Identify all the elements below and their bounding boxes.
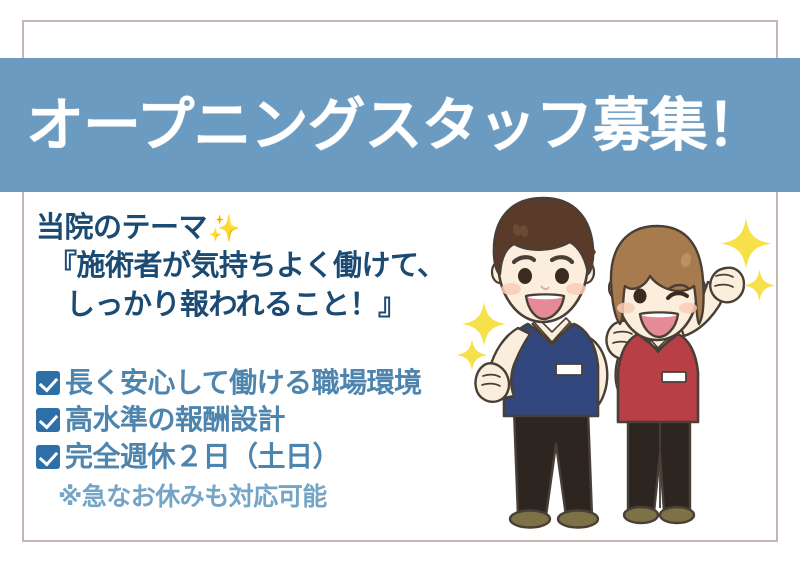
checklist-item: 高水準の報酬設計 xyxy=(36,403,422,436)
theme-block: 当院のテーマ✨ 『施術者が気持ちよく働けて、 しっかり報われること！』 xyxy=(36,208,556,324)
benefits-checklist: 長く安心して働ける職場環境 高水準の報酬設計 完全週休２日（土日） ※急なお休み… xyxy=(36,366,422,513)
headline-band: オープニングスタッフ募集！ xyxy=(0,58,800,192)
checkbox-checked-icon xyxy=(36,371,60,395)
theme-quote-line-1: 『施術者が気持ちよく働けて、 xyxy=(36,246,556,285)
checkbox-checked-icon xyxy=(36,408,60,432)
checklist-note: ※急なお休みも対応可能 xyxy=(36,477,422,513)
flyer-canvas: オープニングスタッフ募集！ 当院のテーマ✨ 『施術者が気持ちよく働けて、 しっか… xyxy=(0,0,800,565)
checklist-item-label: 高水準の報酬設計 xyxy=(65,403,285,436)
checklist-item: 完全週休２日（土日） xyxy=(36,440,422,473)
sparkles-icon: ✨ xyxy=(208,214,240,244)
checklist-item: 長く安心して働ける職場環境 xyxy=(36,366,422,399)
female-staff-figure xyxy=(606,226,744,523)
headline-text: オープニングスタッフ募集！ xyxy=(0,96,800,154)
theme-label: 当院のテーマ xyxy=(36,210,207,244)
checklist-item-label: 長く安心して働ける職場環境 xyxy=(65,366,422,399)
theme-quote-line-2: しっかり報われること！』 xyxy=(36,285,556,324)
checkbox-checked-icon xyxy=(36,445,60,469)
theme-label-row: 当院のテーマ✨ xyxy=(36,208,556,246)
checklist-item-label: 完全週休２日（土日） xyxy=(65,440,340,473)
